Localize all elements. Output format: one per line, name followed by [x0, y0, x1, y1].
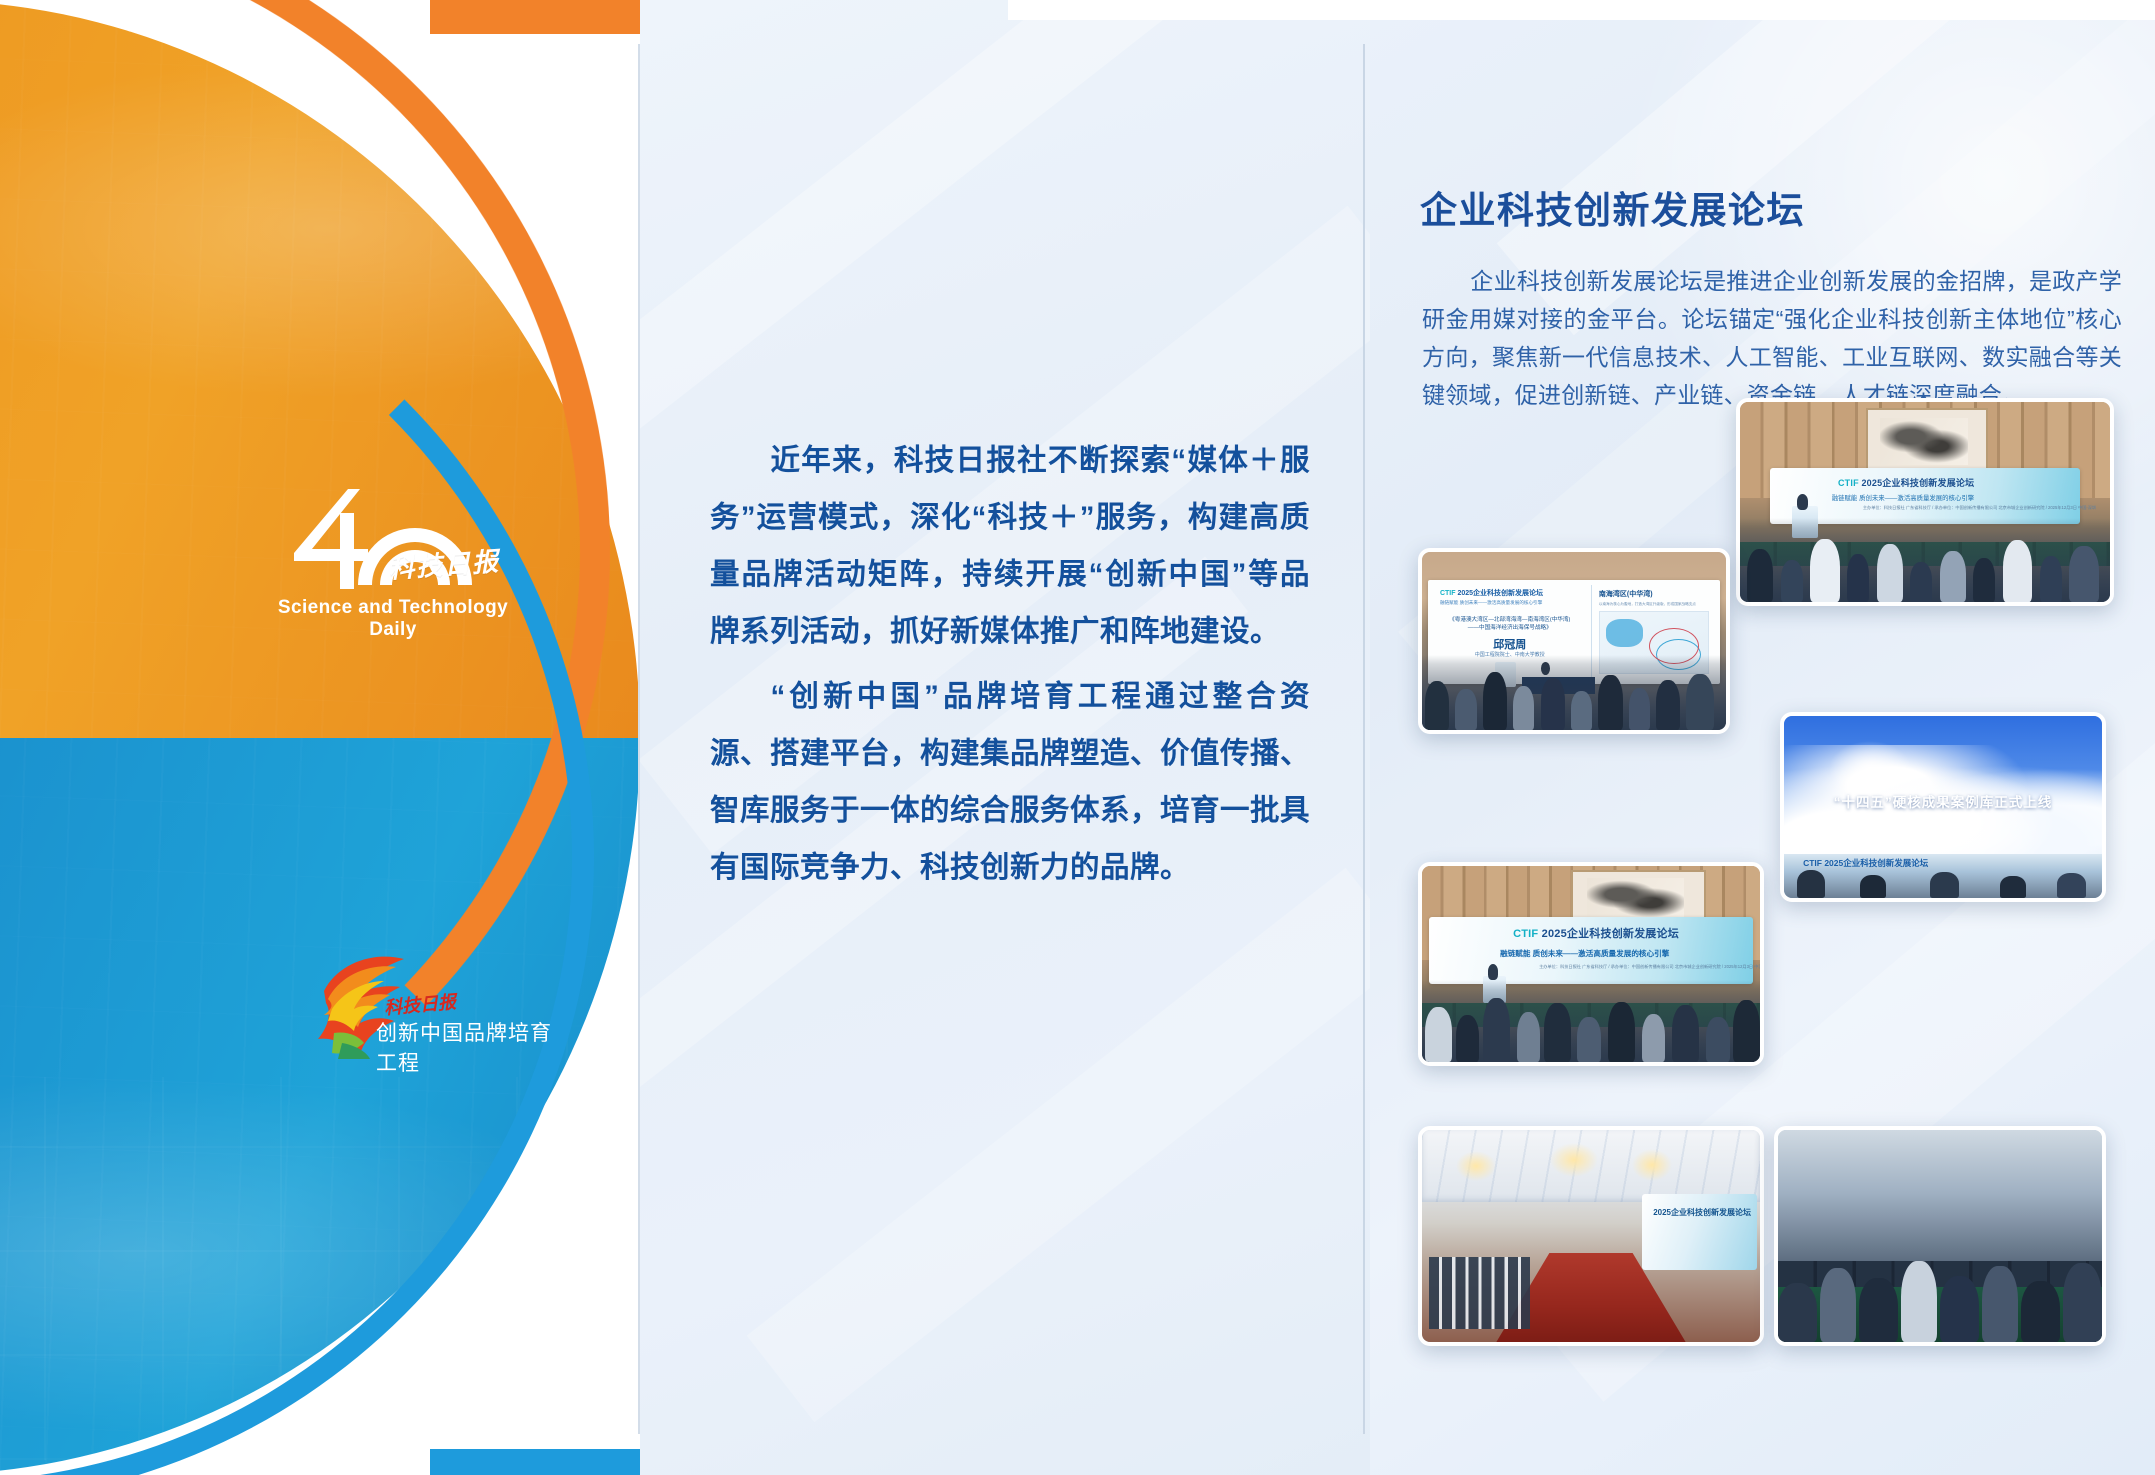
screen-text: 2025企业科技创新发展论坛 — [1653, 1207, 1751, 1218]
banner-title: CTIF 2025企业科技创新发展论坛 — [1513, 925, 1679, 941]
audience-heads — [1778, 1219, 2102, 1342]
program-logo-cn-small: 科技日报 — [383, 988, 457, 1020]
column-divider — [638, 44, 640, 1434]
photo-audience-raising-hands[interactable] — [1774, 1126, 2106, 1346]
chandelier-icon — [1550, 1143, 1597, 1177]
speaker — [1797, 494, 1809, 510]
audience-heads — [1784, 858, 2102, 898]
photo-case-library-launch[interactable]: “十四五”硬核成果案例库正式上线 CTIF 2025企业科技创新发展论坛 — [1780, 712, 2106, 902]
photo-ballroom-wide[interactable]: 2025企业科技创新发展论坛 — [1418, 1126, 1764, 1346]
anniversary-logo-cn: 科技日报 — [387, 541, 501, 586]
banner-title: CTIF 2025企业科技创新发展论坛 — [1838, 476, 1974, 489]
audience-heads — [1422, 652, 1726, 730]
chandelier-icon — [1456, 1151, 1497, 1181]
anniversary-logo: 科技日报 Science and Technology Daily — [268, 485, 518, 635]
slide-right-note: 以南海为核心为腹地，打造大湾区升级版，形成国家战略支点 — [1599, 602, 1696, 607]
paragraph: 近年来，科技日报社不断探索“媒体＋服务”运营模式，深化“科技＋”服务，构建高质量… — [710, 432, 1310, 660]
forty-anniversary-icon: 科技日报 — [268, 485, 518, 593]
banner-subtitle: 融链赋能 质创未来——激活高质量发展的核心引擎 — [1832, 493, 1974, 502]
photo-forum-hall-main[interactable]: CTIF 2025企业科技创新发展论坛 融链赋能 质创未来——激活高质量发展的核… — [1736, 398, 2114, 606]
light-streak — [747, 868, 1370, 1423]
top-white-rule — [1008, 0, 2155, 20]
column-divider — [1363, 44, 1365, 1434]
sun-glare — [1829, 741, 1912, 796]
photo-keynote-slide[interactable]: CTIF 2025企业科技创新发展论坛 融链赋能 质创未来——激活高质量发展的核… — [1418, 548, 1730, 734]
banner-fineprint: 主办单位：科技日报社 广东省科技厅 / 承办单位：中国创新传播有限公司 北京市城… — [1539, 964, 1760, 970]
slide-right-title: 南海湾区(中华湾) — [1599, 589, 1653, 599]
slide-topic: 《粤港澳大湾区—北部湾海湾—南海湾区(中华湾) ——中国海洋经济出海保号战略》 — [1443, 616, 1577, 632]
stage-banner: CTIF 2025企业科技创新发展论坛 融链赋能 质创未来——激活高质量发展的核… — [1429, 917, 1753, 984]
seating-area — [1429, 1257, 1530, 1329]
banner-subtitle: 融链赋能 质创未来——激活高质量发展的核心引擎 — [1500, 948, 1669, 959]
anniversary-logo-en: Science and Technology Daily — [268, 597, 518, 641]
section-body: 企业科技创新发展论坛是推进企业创新发展的金招牌，是政产学研金用媒对接的金平台。论… — [1422, 262, 2122, 414]
photo-forum-stage-audience[interactable]: CTIF 2025企业科技创新发展论坛 融链赋能 质创未来——激活高质量发展的核… — [1418, 862, 1764, 1066]
section-title: 企业科技创新发展论坛 — [1420, 180, 2060, 234]
audience-heads — [1422, 976, 1760, 1062]
audience-heads — [1740, 514, 2110, 602]
middle-body-copy: 近年来，科技日报社不断探索“媒体＋服务”运营模式，深化“科技＋”服务，构建高质量… — [710, 432, 1310, 904]
slide-subtitle: 融链赋能 质创未来——激活高质量发展的核心引擎 — [1440, 600, 1542, 606]
screen-caption: “十四五”硬核成果案例库正式上线 — [1803, 791, 2083, 811]
brochure-spread: 科技日报 Science and Technology Daily 科技日报 创… — [0, 0, 2155, 1475]
slide-logo-title: CTIF 2025企业科技创新发展论坛 — [1440, 588, 1543, 598]
program-logo: 科技日报 创新中国品牌培育工程 — [312, 955, 562, 1075]
banner-fineprint: 主办单位：科技日报社 广东省科技厅 / 承办单位：中国创新传播有限公司 北京市城… — [1863, 505, 2096, 511]
chandelier-icon — [1632, 1149, 1673, 1181]
wall-art — [1866, 408, 1988, 476]
paragraph: 企业科技创新发展论坛是推进企业创新发展的金招牌，是政产学研金用媒对接的金平台。论… — [1422, 262, 2122, 414]
speaker-name: 邱冠周 — [1443, 636, 1577, 652]
program-logo-cn-name: 创新中国品牌培育工程 — [376, 1017, 562, 1077]
paragraph: “创新中国”品牌培育工程通过整合资源、搭建平台，构建集品牌塑造、价值传播、智库服… — [710, 668, 1310, 896]
stage-screen: 2025企业科技创新发展论坛 — [1642, 1194, 1757, 1270]
